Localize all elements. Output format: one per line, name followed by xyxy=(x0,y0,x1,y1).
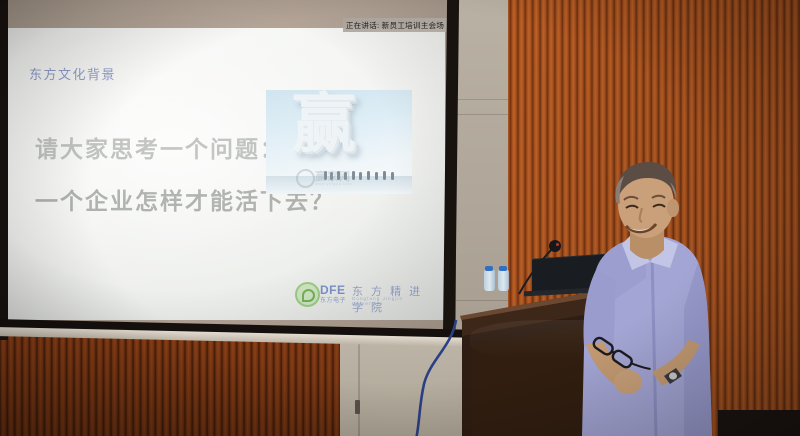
presenter-ear xyxy=(667,199,679,217)
water-bottle-cap xyxy=(485,266,493,271)
microphone-indicator-icon xyxy=(556,243,559,246)
presenter xyxy=(572,158,722,436)
speaking-status-label: 正在讲话: 新员工培训主会场 xyxy=(346,20,444,31)
wooden-slat-wall-lower-shade xyxy=(0,332,344,436)
door-handle xyxy=(355,400,360,414)
water-bottle xyxy=(484,270,495,291)
presenter-hand-left xyxy=(614,370,642,394)
wall-seam xyxy=(358,336,360,436)
speaking-status-banner: 正在讲话: 新员工培训主会场 xyxy=(343,18,447,32)
projection-screen: 东方文化背景 请大家思考一个问题： 一个企业怎样才能活下去？ 赢 赢家 xyxy=(0,0,452,332)
lecture-photo: 东方文化背景 请大家思考一个问题： 一个企业怎样才能活下去？ 赢 赢家 xyxy=(0,0,800,436)
floor-shadow xyxy=(718,410,800,436)
presenter-sleeve-left xyxy=(584,270,617,354)
screen-frame-left xyxy=(0,0,8,340)
microphone-head xyxy=(549,240,561,252)
screen-vignette xyxy=(0,0,452,332)
